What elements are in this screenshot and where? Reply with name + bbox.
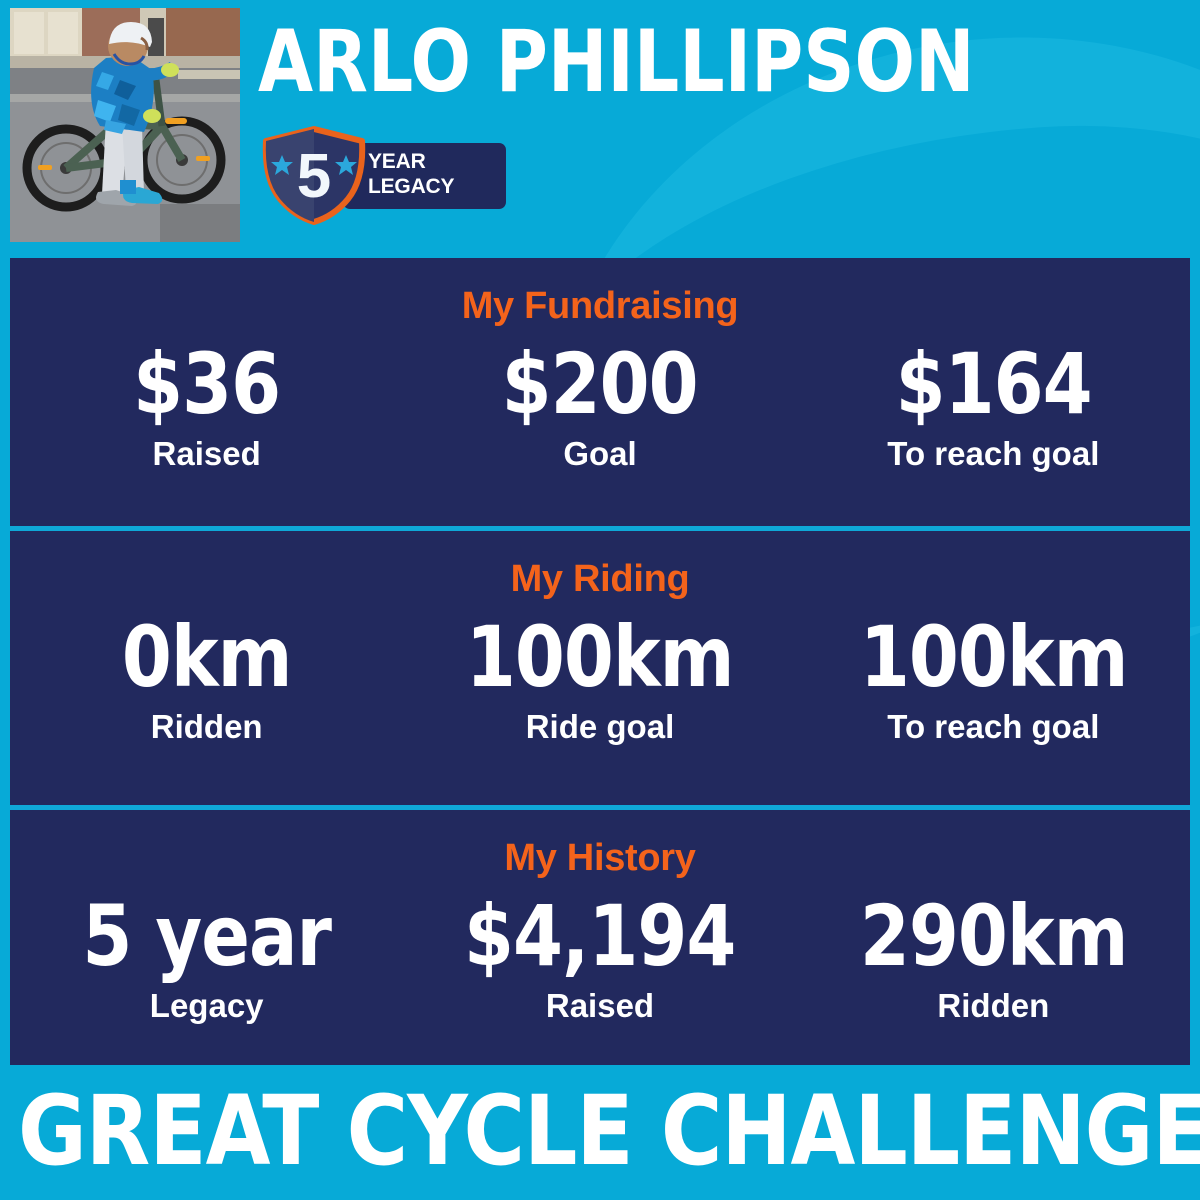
section-riding: My Riding 0km Ridden 100km Ride goal 100… xyxy=(10,531,1190,805)
legacy-badge-text: YEAR LEGACY xyxy=(368,149,503,199)
stat-to-reach-goal-value: $164 xyxy=(806,338,1180,430)
fundraising-poster: ARLO PHILLIPSON 5 YEAR LEGACY My Fundra xyxy=(0,0,1200,1200)
section-title-riding: My Riding xyxy=(10,531,1190,601)
legacy-badge-line1: YEAR xyxy=(368,149,503,174)
stat-goal-value: $200 xyxy=(413,338,787,430)
stat-goal: $200 Goal xyxy=(403,338,796,474)
stat-history-raised-value: $4,194 xyxy=(413,890,787,982)
section-title-fundraising: My Fundraising xyxy=(10,258,1190,328)
stat-ridden-value: 0km xyxy=(20,611,394,703)
stat-row-fundraising: $36 Raised $200 Goal $164 To reach goal xyxy=(10,328,1190,474)
poster-footer: GREAT CYCLE CHALLENGE xyxy=(0,1065,1200,1200)
svg-text:5: 5 xyxy=(297,142,331,211)
stat-history-raised-label: Raised xyxy=(403,982,796,1026)
stat-ride-goal-value: 100km xyxy=(413,611,787,703)
page-title: ARLO PHILLIPSON xyxy=(258,16,1114,108)
participant-photo xyxy=(10,8,240,242)
stat-legacy-value: 5 year xyxy=(20,890,394,982)
stat-ride-goal: 100km Ride goal xyxy=(403,611,796,747)
section-title-history: My History xyxy=(10,810,1190,880)
stat-to-reach-goal: $164 To reach goal xyxy=(797,338,1190,474)
stat-history-ridden-value: 290km xyxy=(806,890,1180,982)
section-fundraising: My Fundraising $36 Raised $200 Goal $164… xyxy=(10,258,1190,526)
stat-raised-value: $36 xyxy=(20,338,394,430)
stat-row-riding: 0km Ridden 100km Ride goal 100km To reac… xyxy=(10,601,1190,747)
stat-legacy-label: Legacy xyxy=(10,982,403,1026)
stat-raised: $36 Raised xyxy=(10,338,403,474)
legacy-badge-line2: LEGACY xyxy=(368,174,503,199)
legacy-badge: 5 YEAR LEGACY xyxy=(258,125,508,225)
shield-icon: 5 xyxy=(258,125,370,225)
stat-history-ridden-label: Ridden xyxy=(797,982,1190,1026)
participant-photo-illustration xyxy=(10,8,240,242)
section-history: My History 5 year Legacy $4,194 Raised 2… xyxy=(10,810,1190,1075)
stats-panel: My Fundraising $36 Raised $200 Goal $164… xyxy=(10,258,1190,1065)
stat-ride-goal-label: Ride goal xyxy=(403,703,796,747)
stat-ride-to-reach-goal-label: To reach goal xyxy=(797,703,1190,747)
stat-to-reach-goal-label: To reach goal xyxy=(797,430,1190,474)
poster-header: ARLO PHILLIPSON 5 YEAR LEGACY xyxy=(0,0,1200,258)
stat-raised-label: Raised xyxy=(10,430,403,474)
stat-row-history: 5 year Legacy $4,194 Raised 290km Ridden xyxy=(10,880,1190,1026)
stat-ridden: 0km Ridden xyxy=(10,611,403,747)
stat-goal-label: Goal xyxy=(403,430,796,474)
stat-history-ridden: 290km Ridden xyxy=(797,890,1190,1026)
stat-history-raised: $4,194 Raised xyxy=(403,890,796,1026)
stat-ride-to-reach-goal-value: 100km xyxy=(806,611,1180,703)
stat-ridden-label: Ridden xyxy=(10,703,403,747)
stat-legacy: 5 year Legacy xyxy=(10,890,403,1026)
stat-ride-to-reach-goal: 100km To reach goal xyxy=(797,611,1190,747)
brand-wordmark: GREAT CYCLE CHALLENGE xyxy=(18,1079,1182,1183)
